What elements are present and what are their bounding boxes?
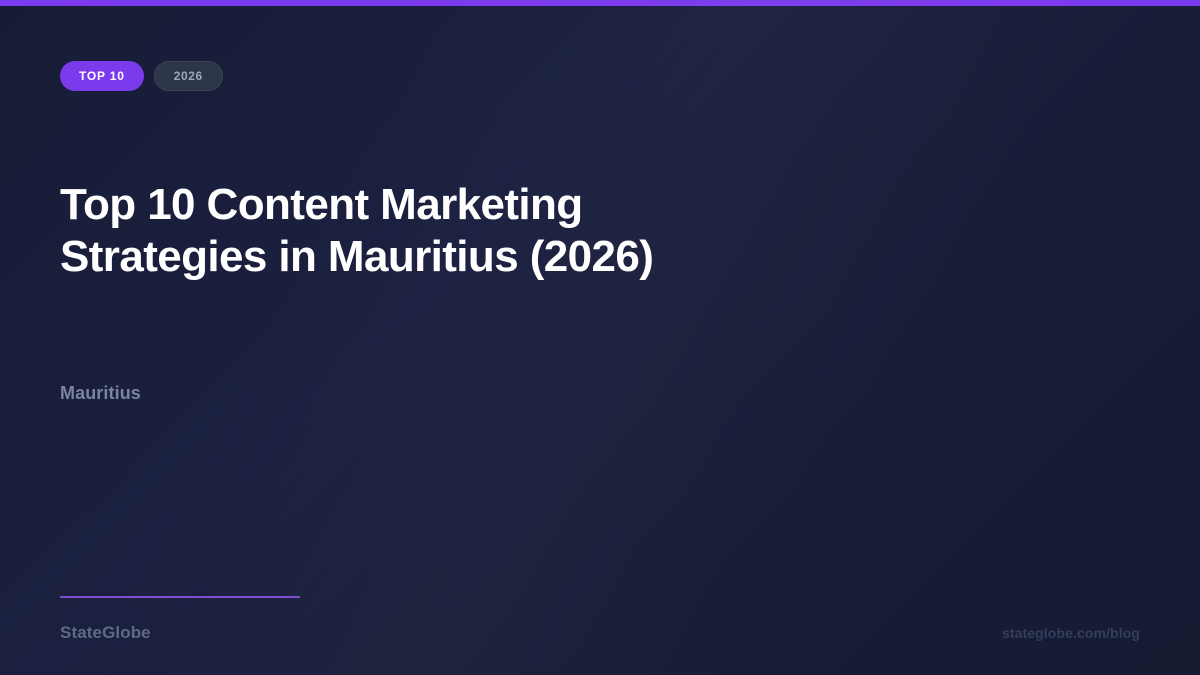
footer-brand-name: StateGlobe (60, 622, 151, 644)
page-title: Top 10 Content Marketing Strategies in M… (60, 179, 680, 283)
background-sheen (0, 0, 1200, 675)
slide-canvas: TOP 10 2026 Top 10 Content Marketing Str… (0, 0, 1200, 675)
footer-url: stateglobe.com/blog (1002, 624, 1140, 643)
top-accent-bar (0, 0, 1200, 6)
badge-year[interactable]: 2026 (154, 61, 223, 91)
footer-divider (60, 596, 300, 598)
badge-top-10[interactable]: TOP 10 (60, 61, 144, 91)
badge-group: TOP 10 2026 (60, 61, 223, 91)
subtitle-location: Mauritius (60, 381, 141, 405)
